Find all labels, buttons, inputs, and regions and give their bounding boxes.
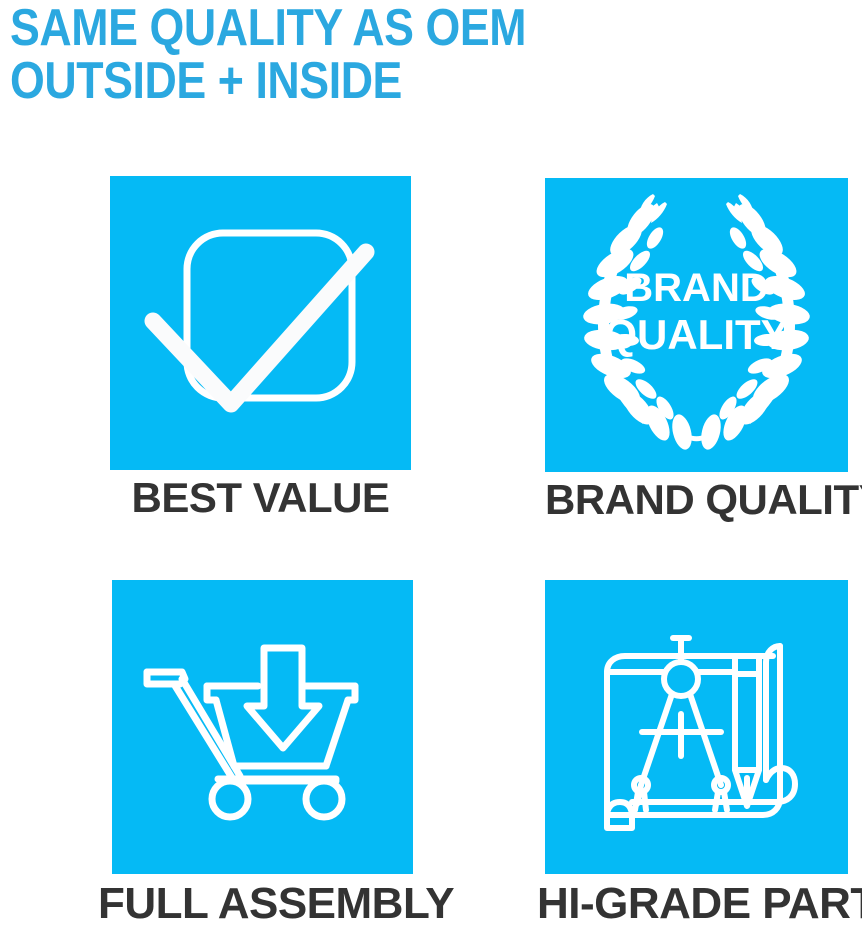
headline-line-2: OUTSIDE + INSIDE <box>10 55 734 108</box>
feature-label: HI-GRADE PARTS <box>537 882 862 926</box>
feature-tile: BRAND QUALITY <box>545 178 848 472</box>
feature-cell-best-value: BEST VALUE <box>110 176 411 470</box>
feature-cell-full-assembly: FULL ASSEMBLY <box>112 580 413 874</box>
feature-tile <box>110 176 411 470</box>
feature-cell-hi-grade-parts: HI-GRADE PARTS <box>545 580 848 874</box>
feature-tile <box>112 580 413 874</box>
headline-block: SAME QUALITY AS OEM OUTSIDE + INSIDE <box>10 2 852 108</box>
laurel-wreath-icon <box>545 178 848 472</box>
blueprint-compass-pencil-icon <box>545 580 848 874</box>
feature-label: BRAND QUALITY <box>545 478 848 522</box>
feature-cell-brand-quality: BRAND QUALITY BRAND QUALITY <box>545 178 848 472</box>
feature-tile <box>545 580 848 874</box>
feature-label: BEST VALUE <box>110 476 411 520</box>
checkbox-check-icon <box>110 176 411 470</box>
headline-line-1: SAME QUALITY AS OEM <box>10 2 734 55</box>
shopping-cart-download-icon <box>112 580 413 874</box>
feature-label: FULL ASSEMBLY <box>98 882 428 926</box>
